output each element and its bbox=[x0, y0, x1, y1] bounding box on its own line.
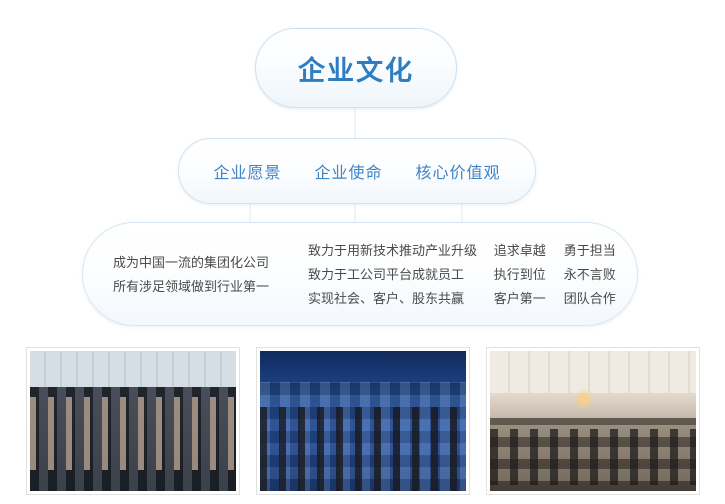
photo1-ceiling bbox=[30, 351, 236, 387]
values-row-3: 客户第一 团队合作 bbox=[494, 289, 621, 308]
values-row-1-right: 勇于担当 bbox=[564, 241, 616, 260]
values-row-2-right: 永不言败 bbox=[564, 265, 616, 284]
values-detail-column: 追求卓越 勇于担当 执行到位 永不言败 客户第一 团队合作 bbox=[490, 241, 621, 308]
photo2-stage bbox=[260, 351, 466, 382]
photo-auditorium bbox=[257, 348, 469, 494]
values-row-1-left: 追求卓越 bbox=[494, 241, 546, 260]
pillar-vision: 企业愿景 bbox=[213, 159, 281, 183]
pillar-mission: 企业使命 bbox=[314, 159, 382, 183]
photo3-ceiling bbox=[490, 351, 696, 393]
page-title: 企业文化 bbox=[298, 49, 414, 88]
photo2-audience bbox=[260, 407, 466, 491]
photo-strip bbox=[0, 348, 725, 496]
mission-line-3: 实现社会、客户、股东共赢 bbox=[308, 289, 490, 308]
pillars-box: 企业愿景 企业使命 核心价值观 bbox=[178, 138, 536, 204]
values-row-2: 执行到位 永不言败 bbox=[494, 265, 621, 284]
mission-detail-column: 致力于用新技术推动产业升级 致力于工公司平台成就员工 实现社会、客户、股东共赢 bbox=[302, 241, 490, 308]
values-row-2-left: 执行到位 bbox=[494, 265, 546, 284]
details-box: 成为中国一流的集团化公司 所有涉足领域做到行业第一 致力于用新技术推动产业升级 … bbox=[82, 222, 638, 326]
mission-line-2: 致力于工公司平台成就员工 bbox=[308, 265, 490, 284]
values-row-3-right: 团队合作 bbox=[564, 289, 616, 308]
photo1-faces bbox=[30, 397, 236, 470]
vision-line-2: 所有涉足领域做到行业第一 bbox=[113, 277, 302, 296]
pillar-core-values: 核心价值观 bbox=[415, 159, 500, 183]
photo-meeting-room bbox=[487, 348, 699, 494]
culture-title-box: 企业文化 bbox=[255, 28, 457, 108]
values-row-3-left: 客户第一 bbox=[494, 289, 546, 308]
mission-line-1: 致力于用新技术推动产业升级 bbox=[308, 241, 490, 260]
photo-group-staff bbox=[27, 348, 239, 494]
photo3-attendees bbox=[490, 429, 696, 485]
vision-detail-column: 成为中国一流的集团化公司 所有涉足领域做到行业第一 bbox=[99, 253, 302, 296]
vision-line-1: 成为中国一流的集团化公司 bbox=[113, 253, 302, 272]
photo3-lamp bbox=[576, 386, 592, 412]
values-row-1: 追求卓越 勇于担当 bbox=[494, 241, 621, 260]
